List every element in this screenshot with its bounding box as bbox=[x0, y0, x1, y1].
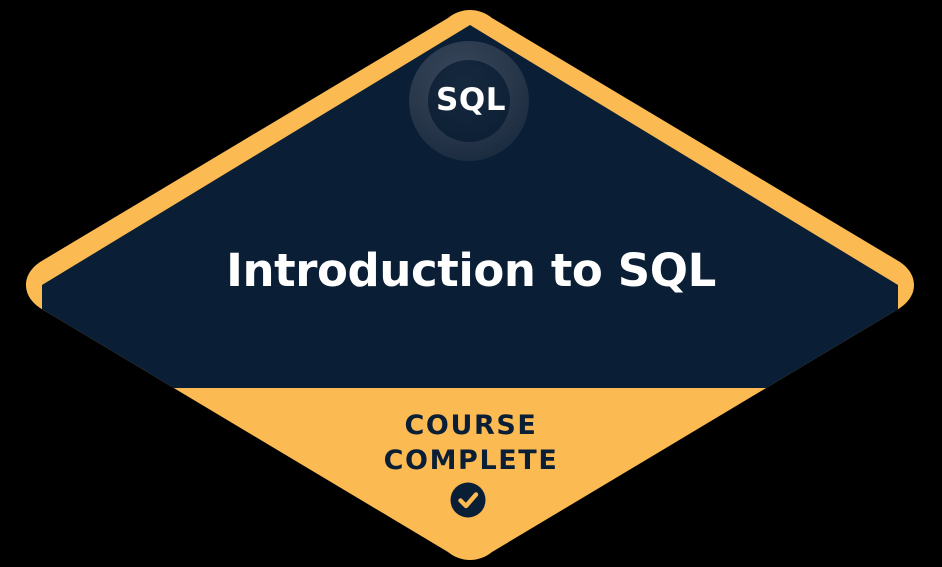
badge-diamond-graphic bbox=[0, 0, 942, 567]
check-circle-icon bbox=[451, 483, 486, 518]
course-completion-badge: SQL Introduction to SQL COURSE COMPLETE bbox=[0, 0, 942, 567]
technology-ring-badge bbox=[409, 41, 529, 161]
